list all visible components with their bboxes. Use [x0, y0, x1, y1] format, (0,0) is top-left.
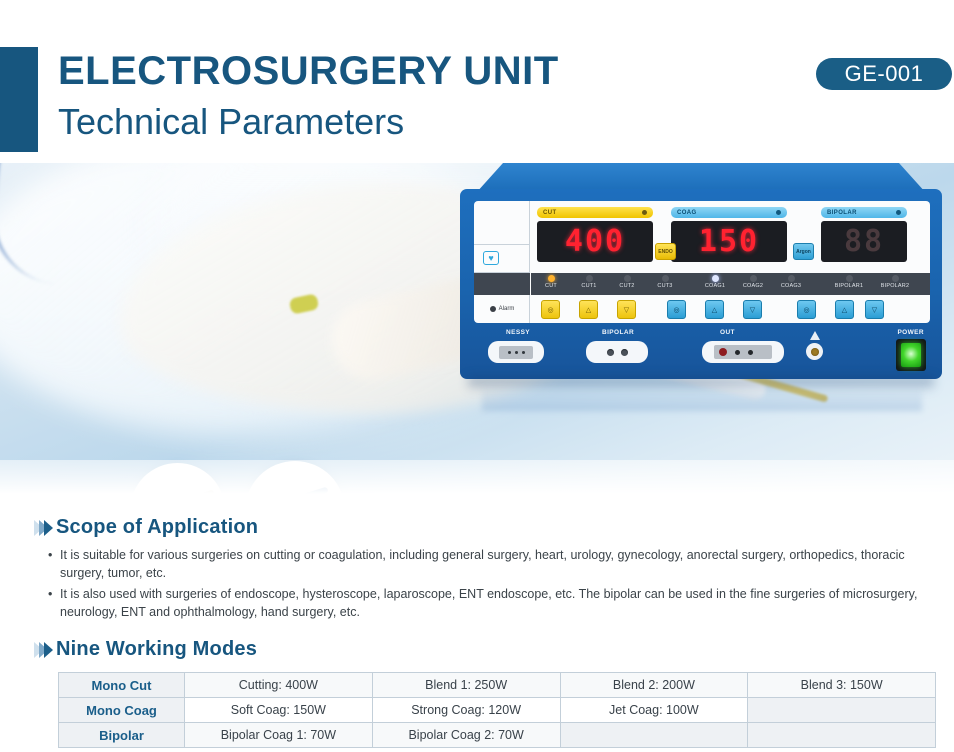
nessy-pin-3: [522, 351, 525, 354]
double-chevron-icon: [34, 520, 49, 536]
page-subtitle: Technical Parameters: [58, 100, 404, 144]
mode-label-cut2: CUT2: [609, 283, 645, 289]
mode-indicator-coag3: COAG3: [773, 273, 809, 289]
chevron-right-icon-3: [44, 642, 53, 658]
modes-section-title: Nine Working Modes: [56, 638, 257, 661]
mode-indicator-coag1: COAG1: [697, 273, 733, 289]
nessy-socket[interactable]: [488, 341, 544, 363]
electrosurgery-unit-device: ♥ Alarm CUT 400: [452, 163, 948, 405]
cell-mono-coag-2: Strong Coag: 120W: [372, 698, 560, 723]
heart-icon: ♥: [483, 251, 499, 265]
scope-section-header: Scope of Application: [34, 516, 258, 539]
display-screen-coag: 150: [671, 221, 787, 262]
mode-button-coag-down[interactable]: ▽: [743, 300, 762, 319]
footswitch-jack[interactable]: [806, 343, 823, 360]
cell-bipolar-2: Bipolar Coag 2: 70W: [372, 723, 560, 748]
connector-label-bipolar: BIPOLAR: [602, 329, 634, 336]
bipolar-label-led: [896, 210, 901, 215]
mode-led-cut: [548, 275, 555, 282]
out-pin-red: [719, 348, 727, 356]
warning-triangle-icon: [810, 331, 820, 340]
footswitch-jack-center: [811, 348, 819, 356]
modes-section-header: Nine Working Modes: [34, 638, 257, 661]
scope-bullet-list: It is suitable for various surgeries on …: [48, 546, 948, 624]
mode-led-coag1: [712, 275, 719, 282]
table-row: Bipolar Bipolar Coag 1: 70W Bipolar Coag…: [59, 723, 936, 748]
mode-label-coag2: COAG2: [735, 283, 771, 289]
mode-indicator-bipolar1: BIPOLAR1: [827, 273, 871, 289]
mode-button-cut-up[interactable]: △: [579, 300, 598, 319]
mode-led-coag2: [750, 275, 757, 282]
display-label-cut: CUT: [537, 207, 653, 218]
coag-label-led: [776, 210, 781, 215]
mode-button-bipolar-up[interactable]: △: [835, 300, 854, 319]
connector-label-nessy: NESSY: [506, 329, 530, 336]
display-label-bipolar: BIPOLAR: [821, 207, 907, 218]
mode-label-cut3: CUT3: [647, 283, 683, 289]
mode-button-cut[interactable]: ◎: [541, 300, 560, 319]
mode-label-cut: CUT: [533, 283, 569, 289]
nessy-pin-2: [515, 351, 518, 354]
out-pin-3: [748, 350, 753, 355]
bipolar-pin-2: [621, 349, 628, 356]
double-chevron-icon: [34, 642, 49, 658]
device-control-face: ♥ Alarm CUT 400: [474, 201, 930, 323]
row-label-mono-coag: Mono Coag: [59, 698, 185, 723]
device-face-left-column: ♥ Alarm: [474, 201, 530, 323]
cell-mono-coag-3: Jet Coag: 100W: [560, 698, 748, 723]
mode-indicator-cut: CUT: [533, 273, 569, 289]
cut-label-led: [642, 210, 647, 215]
mode-led-coag3: [788, 275, 795, 282]
photo-band-floor-fade: [0, 460, 954, 508]
connector-label-out: OUT: [720, 329, 735, 336]
out-socket[interactable]: [702, 341, 784, 363]
chevron-right-icon-3: [44, 520, 53, 536]
mode-led-bipolar1: [846, 275, 853, 282]
model-badge: GE-001: [816, 58, 952, 90]
mode-indicator-cut2: CUT2: [609, 273, 645, 289]
product-photo-band: ♥ Alarm CUT 400: [0, 163, 954, 508]
mode-button-coag-up[interactable]: △: [705, 300, 724, 319]
cell-bipolar-1: Bipolar Coag 1: 70W: [185, 723, 373, 748]
mode-label-bipolar1: BIPOLAR1: [827, 283, 871, 289]
scope-section-title: Scope of Application: [56, 516, 258, 539]
mode-indicator-cut1: CUT1: [571, 273, 607, 289]
alarm-led: [490, 306, 496, 312]
mode-led-cut2: [624, 275, 631, 282]
mode-indicator-row: CUT CUT1 CUT2 CUT3: [531, 273, 930, 295]
datasheet-page: ELECTROSURGERY UNIT Technical Parameters…: [0, 0, 954, 752]
mode-indicator-cut3: CUT3: [647, 273, 683, 289]
device-connector-strip: NESSY BIPOLAR OUT: [474, 329, 930, 375]
mode-led-cut1: [586, 275, 593, 282]
table-row: Mono Coag Soft Coag: 150W Strong Coag: 1…: [59, 698, 936, 723]
bipolar-pin-1: [607, 349, 614, 356]
mode-button-bipolar[interactable]: ◎: [797, 300, 816, 319]
face-left-blank-upper: [474, 201, 530, 245]
display-label-coag-text: COAG: [677, 210, 697, 216]
row-label-mono-cut: Mono Cut: [59, 673, 185, 698]
display-value-coag: 150: [699, 227, 759, 257]
table-row: Mono Cut Cutting: 400W Blend 1: 250W Ble…: [59, 673, 936, 698]
power-switch[interactable]: [896, 339, 926, 371]
mode-led-cut3: [662, 275, 669, 282]
display-group-coag: COAG 150: [671, 207, 787, 262]
alarm-indicator: Alarm: [474, 295, 530, 323]
display-label-bipolar-text: BIPOLAR: [827, 210, 857, 216]
cell-mono-cut-3: Blend 2: 200W: [560, 673, 748, 698]
alarm-label: Alarm: [499, 306, 515, 312]
face-left-dark-strip: [474, 273, 530, 295]
working-modes-table: Mono Cut Cutting: 400W Blend 1: 250W Ble…: [58, 672, 936, 748]
cell-bipolar-3: [560, 723, 748, 748]
connector-label-power: POWER: [897, 329, 924, 336]
display-group-bipolar: BIPOLAR 88: [821, 207, 907, 262]
display-screen-bipolar: 88: [821, 221, 907, 262]
page-header: ELECTROSURGERY UNIT Technical Parameters…: [0, 0, 954, 163]
mode-indicator-bipolar2: BIPOLAR2: [873, 273, 917, 289]
row-label-bipolar: Bipolar: [59, 723, 185, 748]
mode-button-coag[interactable]: ◎: [667, 300, 686, 319]
nessy-contact-block: [499, 346, 533, 359]
cell-mono-cut-4: Blend 3: 150W: [748, 673, 936, 698]
cell-mono-coag-1: Soft Coag: 150W: [185, 698, 373, 723]
mode-label-cut1: CUT1: [571, 283, 607, 289]
bipolar-socket[interactable]: [586, 341, 648, 363]
display-value-bipolar: 88: [844, 227, 884, 257]
endo-button[interactable]: ENDO: [655, 243, 676, 260]
nessy-pin-1: [508, 351, 511, 354]
cell-mono-cut-1: Cutting: 400W: [185, 673, 373, 698]
mode-label-coag3: COAG3: [773, 283, 809, 289]
mode-indicator-coag2: COAG2: [735, 273, 771, 289]
display-label-coag: COAG: [671, 207, 787, 218]
display-screen-cut: 400: [537, 221, 653, 262]
display-group-cut: CUT 400: [537, 207, 653, 262]
mode-button-row: ◎ △ ▽ ◎ △ ▽ ◎ △ ▽: [531, 297, 930, 323]
out-contact-block: [714, 345, 772, 359]
list-item: It is suitable for various surgeries on …: [48, 546, 948, 582]
power-switch-light: [901, 343, 921, 367]
display-label-cut-text: CUT: [543, 210, 557, 216]
out-pin-2: [735, 350, 740, 355]
device-reflection: [482, 385, 922, 411]
mode-button-bipolar-down[interactable]: ▽: [865, 300, 884, 319]
page-title: ELECTROSURGERY UNIT: [58, 48, 559, 94]
list-item: It is also used with surgeries of endosc…: [48, 585, 948, 621]
cell-bipolar-4: [748, 723, 936, 748]
mode-led-bipolar2: [892, 275, 899, 282]
device-face-main: CUT 400 COAG 150: [531, 201, 930, 323]
cell-mono-coag-4: [748, 698, 936, 723]
header-accent-bar: [0, 47, 38, 152]
mode-label-bipolar2: BIPOLAR2: [873, 283, 917, 289]
cell-mono-cut-2: Blend 1: 250W: [372, 673, 560, 698]
mode-label-coag1: COAG1: [697, 283, 733, 289]
argon-button[interactable]: Argon: [793, 243, 814, 260]
display-value-cut: 400: [565, 227, 625, 257]
mode-button-cut-down[interactable]: ▽: [617, 300, 636, 319]
